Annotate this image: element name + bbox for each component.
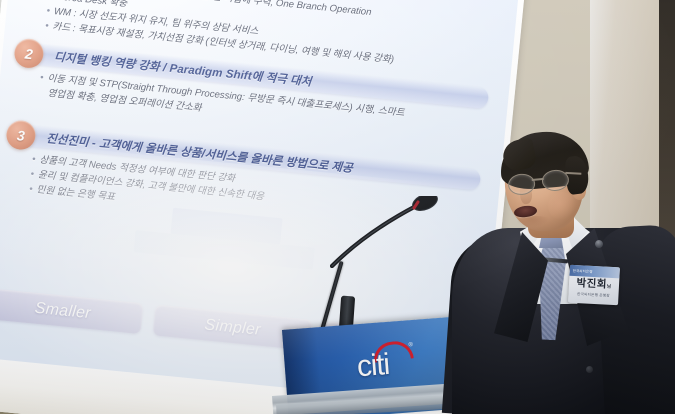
suit-button: [586, 366, 593, 373]
eyeglass-temple: [565, 172, 581, 174]
press-conference-photo: 1 씨티의 Globality로 Global과 Target 기업에 집중 기…: [0, 0, 675, 414]
eyeglass-lens-left: [507, 173, 536, 196]
name-badge-name-suffix: 님: [607, 284, 612, 289]
name-badge-name-text: 박진회: [576, 277, 607, 291]
name-badge: 한국씨티은행 박진회님 한국씨티은행 은행장: [568, 265, 620, 306]
name-badge-header-label: 한국씨티은행: [570, 268, 593, 274]
chin-shadow: [516, 216, 556, 232]
name-badge-name: 박진회님: [569, 276, 620, 295]
speaker: 한국씨티은행 박진회님 한국씨티은행 은행장: [0, 0, 675, 414]
cheek-highlight: [548, 192, 576, 220]
